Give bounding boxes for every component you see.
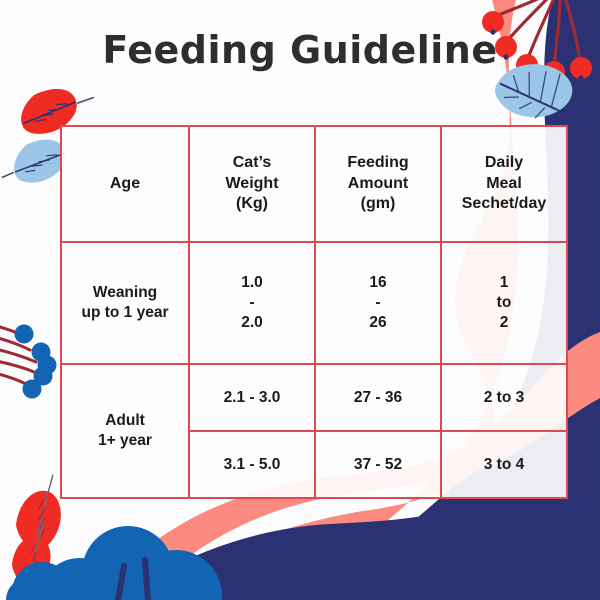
header-weight-line3: (Kg) [192, 194, 312, 214]
cell-age-weaning: Weaning up to 1 year [61, 242, 189, 364]
header-meals-line1: Daily [444, 153, 564, 173]
header-cell-weight: Cat’s Weight (Kg) [189, 126, 315, 242]
header-weight-line1: Cat’s [192, 153, 312, 173]
page-title: Feeding Guideline [0, 28, 600, 72]
age-adult-line2: 1+ year [64, 431, 186, 451]
meals-weaning-line2: to [444, 293, 564, 313]
amount-weaning-line2: - [318, 293, 438, 313]
header-amount-line1: Feeding [318, 153, 438, 173]
header-meals-line2: Meal [444, 174, 564, 194]
weight-weaning-line3: 2.0 [192, 313, 312, 333]
header-cell-meals: Daily Meal Sechet/day [441, 126, 567, 242]
table-row: Weaning up to 1 year 1.0 - 2.0 16 - 26 [61, 242, 567, 364]
table-header-row: Age Cat’s Weight (Kg) Feeding Amount (gm… [61, 126, 567, 242]
bush-blue-bottom-left [6, 526, 222, 600]
table-row: Adult 1+ year 2.1 - 3.0 27 - 36 2 to 3 [61, 364, 567, 431]
feeding-guideline-table-container: Age Cat’s Weight (Kg) Feeding Amount (gm… [60, 125, 542, 499]
cell-amount-adult-1: 27 - 36 [315, 364, 441, 431]
meals-weaning-line1: 1 [444, 273, 564, 293]
berries-blue-left [0, 322, 57, 399]
weight-weaning-line2: - [192, 293, 312, 313]
header-age-label: Age [110, 175, 140, 192]
header-amount-line2: Amount [318, 174, 438, 194]
header-cell-amount: Feeding Amount (gm) [315, 126, 441, 242]
header-cell-age: Age [61, 126, 189, 242]
amount-weaning-line1: 16 [318, 273, 438, 293]
age-weaning-line2: up to 1 year [64, 303, 186, 323]
feeding-guideline-table: Age Cat’s Weight (Kg) Feeding Amount (gm… [60, 125, 568, 499]
cell-weight-weaning: 1.0 - 2.0 [189, 242, 315, 364]
meals-weaning-line3: 2 [444, 313, 564, 333]
leaf-red-bottom-left-2 [0, 522, 70, 591]
cell-weight-adult-1: 2.1 - 3.0 [189, 364, 315, 431]
cell-amount-weaning: 16 - 26 [315, 242, 441, 364]
header-weight-line2: Weight [192, 174, 312, 194]
cell-meals-adult-1: 2 to 3 [441, 364, 567, 431]
feeding-guideline-poster: Feeding Guideline Age Cat’s Weight (Kg) … [0, 0, 600, 600]
cell-meals-adult-2: 3 to 4 [441, 431, 567, 498]
age-weaning-line1: Weaning [64, 283, 186, 303]
cell-weight-adult-2: 3.1 - 5.0 [189, 431, 315, 498]
cell-meals-weaning: 1 to 2 [441, 242, 567, 364]
header-meals-line3: Sechet/day [444, 194, 564, 214]
weight-weaning-line1: 1.0 [192, 273, 312, 293]
age-adult-line1: Adult [64, 411, 186, 431]
header-amount-line3: (gm) [318, 194, 438, 214]
cell-age-adult: Adult 1+ year [61, 364, 189, 498]
cell-amount-adult-2: 37 - 52 [315, 431, 441, 498]
amount-weaning-line3: 26 [318, 313, 438, 333]
